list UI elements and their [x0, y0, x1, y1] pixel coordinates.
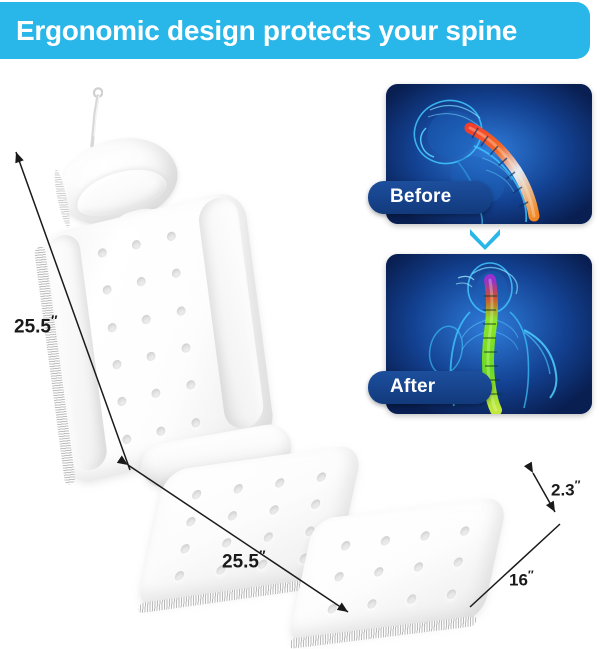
chevron-down-icon: [468, 226, 502, 250]
product-image: [0, 62, 380, 635]
dimension-label-height: 25.5″: [14, 313, 57, 338]
dimension-label-thickness: 2.3″: [551, 478, 580, 501]
foot-tuft-grid: [308, 513, 487, 628]
before-label-badge: Before: [368, 181, 492, 214]
header-banner: Ergonomic design protects your spine: [0, 2, 590, 59]
panel-after: After: [386, 254, 592, 414]
before-after-comparison: Before: [378, 84, 592, 414]
foot-pad: [288, 496, 509, 644]
back-tuft-grid: [83, 214, 215, 462]
dimension-label-length: 25.5″: [222, 548, 265, 573]
after-label-badge: After: [368, 371, 492, 404]
page-title: Ergonomic design protects your spine: [16, 15, 517, 47]
dimension-label-width: 16″: [509, 568, 533, 591]
panel-before: Before: [386, 84, 592, 224]
